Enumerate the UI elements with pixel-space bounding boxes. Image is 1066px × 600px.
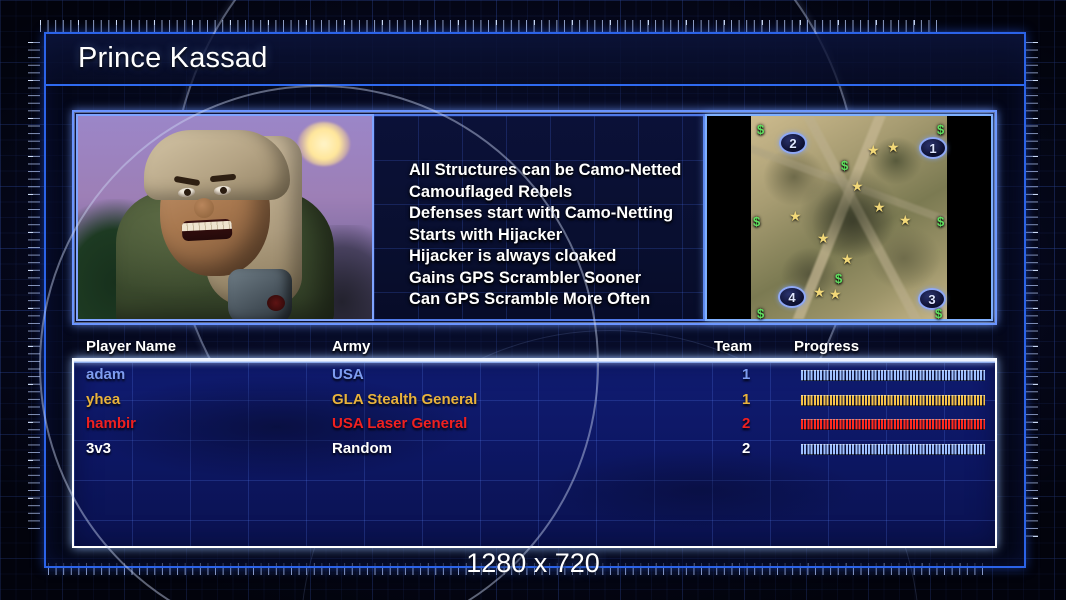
cell-army: GLA Stealth General [332,391,477,408]
title-bar: Prince Kassad [46,34,1024,86]
star-icon: ★ [899,212,912,229]
header-separator [74,360,995,363]
star-icon: ★ [813,284,826,301]
star-icon: ★ [841,251,854,268]
progress-bar [801,370,985,381]
cell-team: 1 [742,391,750,408]
table-row[interactable]: yheaGLA Stealth General1 [74,391,995,416]
cell-progress [801,419,985,430]
column-header-team: Team [714,338,752,355]
letterbox-left [707,116,751,319]
column-header-progress: Progress [794,338,859,355]
money-icon: $ [937,122,944,137]
cell-progress [801,444,985,455]
cell-player-name: yhea [86,391,120,408]
resolution-label: 1280 x 720 [0,548,1066,579]
map-preview[interactable]: 2143$$$$$$$$★★★★★★★★★★ [705,114,993,321]
money-icon: $ [835,271,842,286]
star-icon: ★ [817,230,830,247]
cell-team: 2 [742,415,750,432]
player-list-panel: Player Name Army Team Progress adamUSA1y… [72,358,997,548]
progress-bar [801,395,985,406]
star-icon: ★ [829,286,842,303]
letterbox-right [947,116,991,319]
money-icon: $ [937,214,944,229]
cell-army: USA Laser General [332,415,467,432]
map-start-position: 4 [778,286,806,308]
star-icon: ★ [851,178,864,195]
cell-progress [801,395,985,406]
cell-army: Random [332,440,392,457]
star-icon: ★ [789,208,802,225]
progress-bar [801,419,985,430]
cell-player-name: adam [86,366,125,383]
table-row[interactable]: 3v3Random2 [74,440,995,465]
column-header-army: Army [332,338,370,355]
table-header-row: Player Name Army Team Progress [74,338,995,360]
player-rows: adamUSA1yheaGLA Stealth General1hambirUS… [74,366,995,464]
table-row[interactable]: adamUSA1 [74,366,995,391]
page-title: Prince Kassad [78,42,268,75]
money-icon: $ [757,306,764,321]
money-icon: $ [841,158,848,173]
cell-army: USA [332,366,364,383]
progress-bar [801,444,985,455]
cell-player-name: hambir [86,415,136,432]
map-start-position: 1 [919,137,947,159]
cell-player-name: 3v3 [86,440,111,457]
money-icon: $ [753,214,760,229]
ruler-right [1026,42,1038,540]
money-icon: $ [757,122,764,137]
cell-progress [801,370,985,381]
map-start-position: 2 [779,132,807,154]
star-icon: ★ [873,199,886,216]
money-icon: $ [935,306,942,321]
cell-team: 2 [742,440,750,457]
star-icon: ★ [887,139,900,156]
table-row[interactable]: hambirUSA Laser General2 [74,415,995,440]
column-header-player-name: Player Name [86,338,176,355]
map-terrain: 2143$$$$$$$$★★★★★★★★★★ [751,116,947,319]
star-icon: ★ [867,142,880,159]
ruler-left [28,42,40,532]
cell-team: 1 [742,366,750,383]
